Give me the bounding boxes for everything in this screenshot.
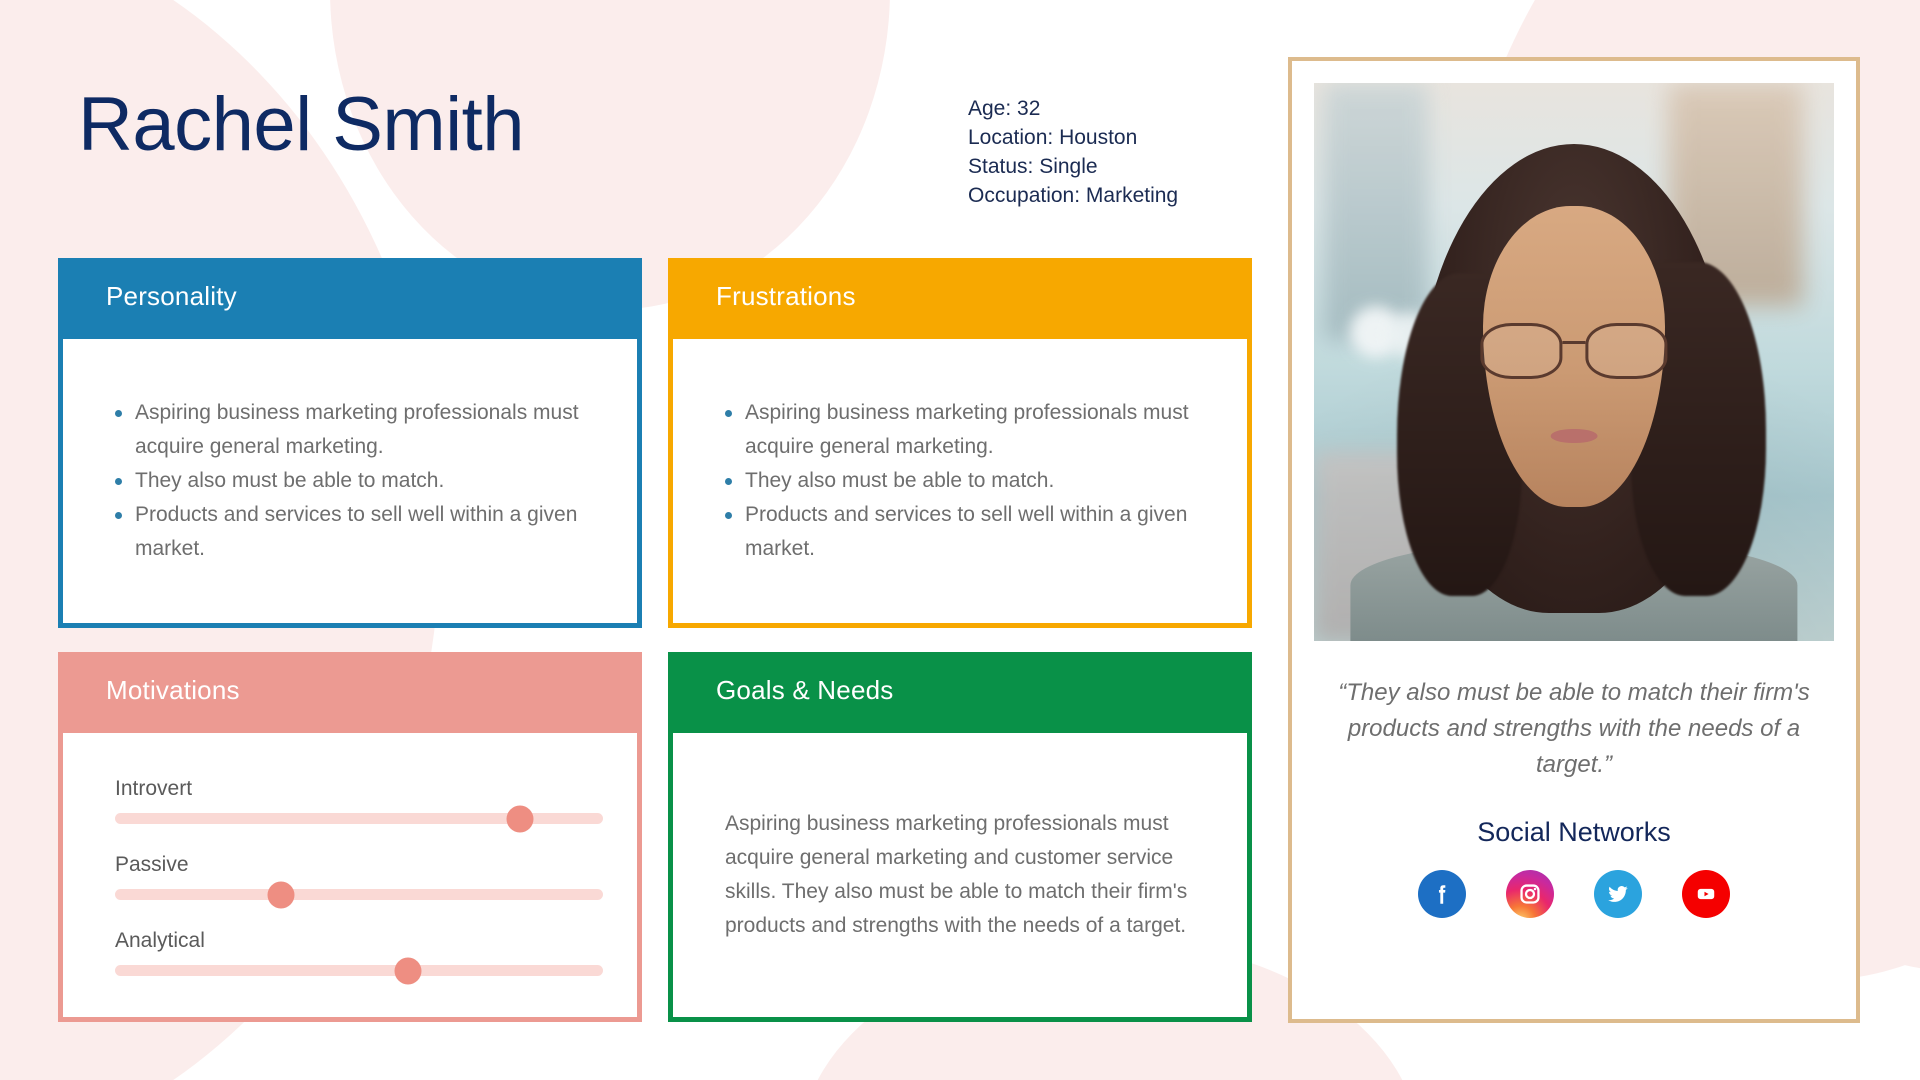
portrait-photo (1314, 83, 1834, 641)
card-frustrations: Frustrations Aspiring business marketing… (668, 258, 1252, 628)
demographic-occupation: Occupation: Marketing (968, 181, 1178, 210)
card-motivations-header: Motivations (58, 652, 642, 728)
glasses-lens-right (1585, 323, 1667, 379)
list-item: Aspiring business marketing professional… (725, 396, 1201, 464)
youtube-icon[interactable] (1682, 870, 1730, 918)
card-motivations: Motivations Introvert Passive Analy (58, 652, 642, 1022)
portrait-glasses (1480, 323, 1667, 379)
page-title: Rachel Smith (78, 85, 524, 165)
card-frustrations-body: Aspiring business marketing professional… (673, 339, 1247, 623)
list-item: Aspiring business marketing professional… (115, 396, 591, 464)
personality-bullet-list: Aspiring business marketing professional… (63, 396, 637, 566)
profile-panel: “They also must be able to match their f… (1288, 57, 1860, 1023)
list-item: Products and services to sell well withi… (115, 498, 591, 566)
card-motivations-body: Introvert Passive Analytical (63, 733, 637, 1017)
slider-label-introvert: Introvert (115, 774, 603, 804)
goals-paragraph: Aspiring business marketing professional… (673, 807, 1247, 943)
persona-canvas: Rachel Smith Age: 32 Location: Houston S… (0, 0, 1920, 1080)
list-item: They also must be able to match. (115, 464, 591, 498)
card-goals-title: Goals & Needs (716, 675, 893, 706)
card-personality: Personality Aspiring business marketing … (58, 258, 642, 628)
social-networks-title: Social Networks (1314, 817, 1834, 848)
list-item: Products and services to sell well withi… (725, 498, 1201, 566)
slider-row-passive: Passive (115, 850, 603, 900)
card-personality-body: Aspiring business marketing professional… (63, 339, 637, 623)
card-goals-needs: Goals & Needs Aspiring business marketin… (668, 652, 1252, 1022)
card-frustrations-title: Frustrations (716, 281, 856, 312)
slider-label-passive: Passive (115, 850, 603, 880)
slider-thumb-introvert[interactable] (507, 805, 534, 832)
card-personality-title: Personality (106, 281, 237, 312)
photo-background-building-left (1324, 83, 1428, 340)
instagram-icon[interactable] (1506, 870, 1554, 918)
slider-thumb-passive[interactable] (267, 881, 294, 908)
avatar (1314, 83, 1834, 641)
slider-track-analytical[interactable] (115, 965, 603, 976)
slider-track-passive[interactable] (115, 889, 603, 900)
persona-quote: “They also must be able to match their f… (1314, 675, 1834, 783)
social-networks-row (1314, 870, 1834, 918)
slider-row-analytical: Analytical (115, 926, 603, 976)
list-item: They also must be able to match. (725, 464, 1201, 498)
motivation-sliders: Introvert Passive Analytical (63, 774, 637, 976)
card-frustrations-header: Frustrations (668, 258, 1252, 334)
demographic-location: Location: Houston (968, 123, 1178, 152)
card-personality-header: Personality (58, 258, 642, 334)
glasses-lens-left (1480, 323, 1562, 379)
card-goals-body: Aspiring business marketing professional… (673, 733, 1247, 1017)
slider-label-analytical: Analytical (115, 926, 603, 956)
slider-row-introvert: Introvert (115, 774, 603, 824)
demographic-status: Status: Single (968, 152, 1178, 181)
glasses-bridge (1563, 341, 1585, 344)
card-goals-header: Goals & Needs (668, 652, 1252, 728)
slider-track-introvert[interactable] (115, 813, 603, 824)
portrait-lips (1551, 429, 1598, 444)
frustrations-bullet-list: Aspiring business marketing professional… (673, 396, 1247, 566)
facebook-icon[interactable] (1418, 870, 1466, 918)
slider-thumb-analytical[interactable] (394, 957, 421, 984)
twitter-icon[interactable] (1594, 870, 1642, 918)
card-motivations-title: Motivations (106, 675, 240, 706)
demographic-age: Age: 32 (968, 94, 1178, 123)
demographics-block: Age: 32 Location: Houston Status: Single… (968, 94, 1178, 210)
